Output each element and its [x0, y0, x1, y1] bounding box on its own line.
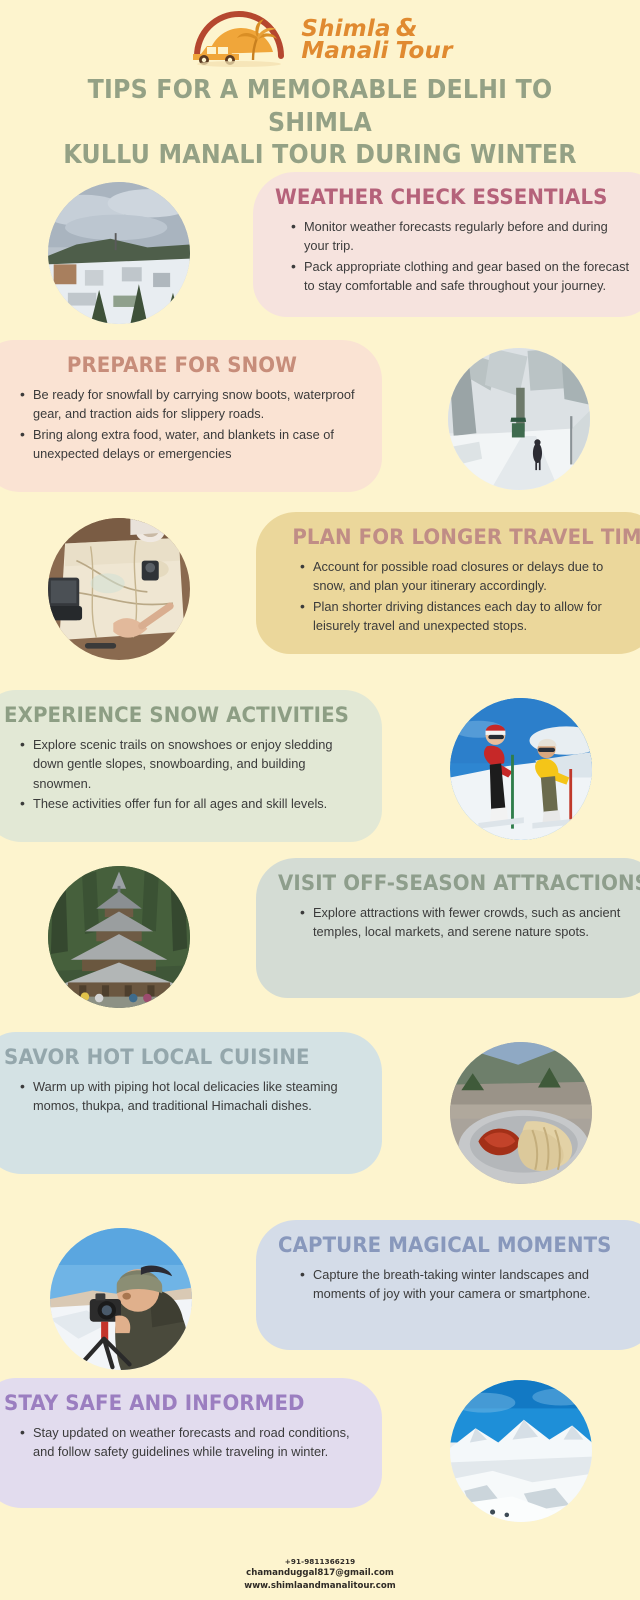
card-bullet-list: Capture the breath-taking winter landsca… — [278, 1265, 636, 1304]
card-bullet-list: Account for possible road closures or de… — [278, 557, 636, 636]
card-heading: Visit Off-Season Attractions — [278, 872, 607, 896]
card-experience-snow-activities: Experience Snow Activities Explore sceni… — [0, 690, 382, 842]
list-item: Explore attractions with fewer crowds, s… — [300, 903, 636, 942]
card-plan-for-longer-travel-times: Plan for Longer Travel Times Account for… — [256, 512, 640, 654]
page-title-line-2: Kullu Manali Tour During Winter — [50, 139, 589, 172]
brand-line-2: Manali — [301, 41, 388, 62]
list-item: Explore scenic trails on snowshoes or en… — [20, 735, 360, 793]
infographic-page: Shimla & Manali Tour Tips for a Memorabl… — [0, 0, 640, 1600]
photographer-in-snow-photo — [50, 1228, 192, 1370]
card-bullet-list: Explore scenic trails on snowshoes or en… — [4, 735, 360, 814]
card-bullet-list: Stay updated on weather forecasts and ro… — [4, 1423, 360, 1462]
card-bullet-list: Explore attractions with fewer crowds, s… — [278, 903, 636, 942]
list-item: Account for possible road closures or de… — [300, 557, 636, 596]
skiers-on-slope-photo — [450, 698, 592, 840]
brand-logo-text: Shimla & Manali Tour — [301, 16, 452, 61]
list-item: Plan shorter driving distances each day … — [300, 597, 636, 636]
brand-ampersand: & — [396, 16, 418, 39]
footer-website[interactable]: www.shimlaandmanalitour.com — [0, 1580, 640, 1592]
list-item: These activities offer fun for all ages … — [20, 794, 360, 813]
card-heading: Experience Snow Activities — [4, 704, 332, 728]
card-heading: Plan for Longer Travel Times — [292, 526, 621, 550]
card-prepare-for-snow: Prepare for Snow Be ready for snowfall b… — [0, 340, 382, 492]
plate-of-momos-photo — [450, 1042, 592, 1184]
card-savor-hot-local-cuisine: Savor Hot Local Cuisine Warm up with pip… — [0, 1032, 382, 1174]
card-heading: Weather Check Essentials — [275, 186, 607, 210]
list-item: Stay updated on weather forecasts and ro… — [20, 1423, 360, 1462]
footer-phone[interactable]: +91-9811366219 — [0, 1557, 640, 1567]
card-stay-safe-and-informed: Stay Safe and Informed Stay updated on w… — [0, 1378, 382, 1508]
jeep-palm-sun-logo-icon — [187, 10, 295, 68]
hidimba-temple-photo — [48, 866, 190, 1008]
page-title-line-1: Tips for a Memorable Delhi to Shimla — [50, 74, 589, 139]
card-bullet-list: Monitor weather forecasts regularly befo… — [275, 217, 636, 296]
brand-line-3: Tour — [396, 41, 453, 62]
brand-logo: Shimla & Manali Tour — [0, 8, 640, 70]
list-item: Pack appropriate clothing and gear based… — [291, 257, 636, 296]
card-capture-magical-moments: Capture Magical Moments Capture the brea… — [256, 1220, 640, 1350]
page-title: Tips for a Memorable Delhi to Shimla Kul… — [50, 74, 589, 172]
list-item: Be ready for snowfall by carrying snow b… — [20, 385, 360, 424]
card-visit-off-season-attractions: Visit Off-Season Attractions Explore att… — [256, 858, 640, 998]
card-bullet-list: Warm up with piping hot local delicacies… — [4, 1077, 360, 1116]
card-heading: Capture Magical Moments — [278, 1234, 607, 1258]
card-weather-check-essentials: Weather Check Essentials Monitor weather… — [253, 172, 640, 317]
footer-contact: +91-9811366219 chamanduggal817@gmail.com… — [0, 1557, 640, 1592]
card-bullet-list: Be ready for snowfall by carrying snow b… — [4, 385, 360, 464]
list-item: Warm up with piping hot local delicacies… — [20, 1077, 360, 1116]
card-heading: Stay Safe and Informed — [4, 1392, 332, 1416]
list-item: Monitor weather forecasts regularly befo… — [291, 217, 636, 256]
snow-mountain-peak-photo — [450, 1380, 592, 1522]
card-heading: Prepare for Snow — [18, 354, 346, 378]
footer-email[interactable]: chamanduggal817@gmail.com — [0, 1567, 640, 1579]
list-item: Bring along extra food, water, and blank… — [20, 425, 360, 464]
snowy-hill-town-photo — [48, 182, 190, 324]
snowy-forest-road-photo — [448, 348, 590, 490]
map-planning-desk-photo — [48, 518, 190, 660]
card-heading: Savor Hot Local Cuisine — [4, 1046, 332, 1070]
list-item: Capture the breath-taking winter landsca… — [300, 1265, 636, 1304]
